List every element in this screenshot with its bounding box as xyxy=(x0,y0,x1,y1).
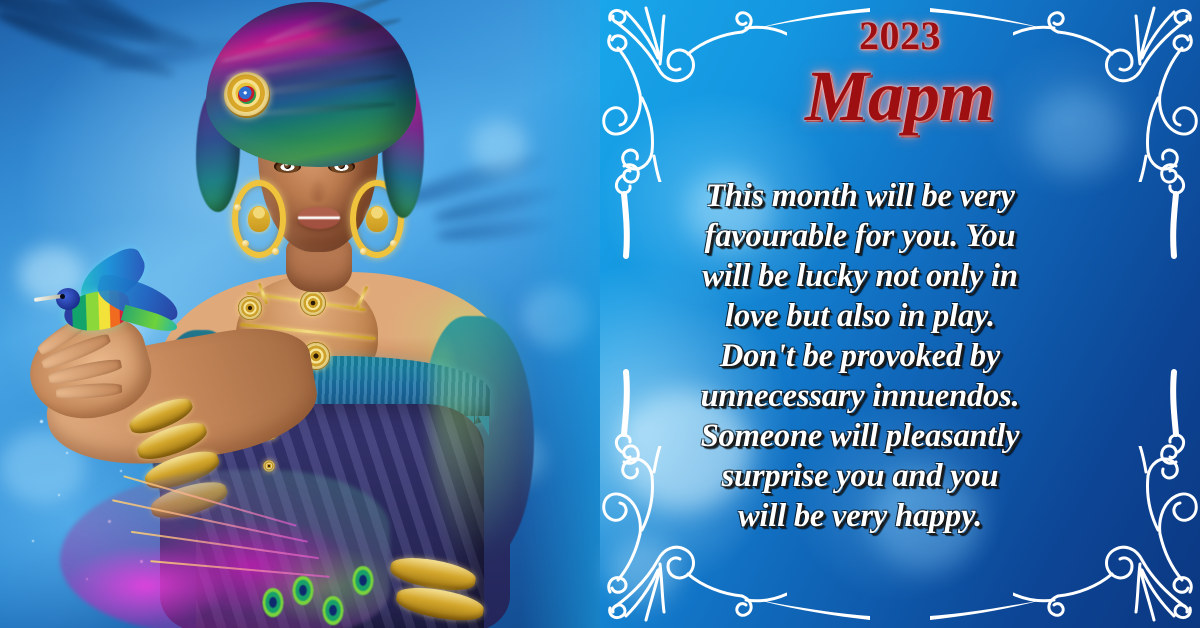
chin-shadow xyxy=(282,234,354,252)
illustration-panel xyxy=(0,0,600,628)
fortune-teller-figure xyxy=(0,0,600,628)
earring-bead xyxy=(234,204,241,211)
prediction-line: unnecessary innuendos. xyxy=(645,376,1075,416)
month-label: Март xyxy=(600,58,1200,136)
edge-ornament-right-upper xyxy=(1158,160,1198,260)
prediction-text: This month will be very favourable for y… xyxy=(645,176,1075,536)
hummingbird-eye xyxy=(60,294,65,299)
turban-brooch xyxy=(224,72,270,118)
prediction-line: will be very happy. xyxy=(645,496,1075,536)
hoop-earring xyxy=(232,180,286,258)
prediction-line: This month will be very xyxy=(645,176,1075,216)
earring-bead xyxy=(390,240,397,247)
peacock-eye-feather xyxy=(322,596,344,626)
bokeh-light xyxy=(608,540,678,604)
prediction-line: will be lucky not only in xyxy=(645,256,1075,296)
earring-bead xyxy=(360,248,367,255)
prediction-line: Someone will pleasantly xyxy=(645,416,1075,456)
year-label: 2023 xyxy=(600,16,1200,56)
peacock-eye-feather xyxy=(292,576,314,606)
edge-ornament-bottom-right-dart xyxy=(928,596,1048,622)
title-block: 2023 Март xyxy=(600,16,1200,136)
peacock-eye-feather xyxy=(352,566,374,596)
edge-ornament-left-lower xyxy=(602,368,642,468)
prediction-line: love but also in play. xyxy=(645,296,1075,336)
peacock-eye-feather xyxy=(262,588,284,618)
horoscope-card: 2023 Март This month will be very favour… xyxy=(0,0,1200,628)
edge-ornament-left-upper xyxy=(602,160,642,260)
earring-bead xyxy=(242,240,249,247)
prediction-line: surprise you and you xyxy=(645,456,1075,496)
edge-ornament-bottom-left-dart xyxy=(752,596,872,622)
edge-ornament-right-lower xyxy=(1158,368,1198,468)
necklace-disc xyxy=(238,296,262,320)
prediction-line: Don't be provoked by xyxy=(645,336,1075,376)
prediction-line: favourable for you. You xyxy=(645,216,1075,256)
lips xyxy=(298,207,340,229)
earring-bead xyxy=(272,248,279,255)
necklace-disc xyxy=(300,290,326,316)
hummingbird-head xyxy=(56,288,80,310)
nose xyxy=(308,178,328,202)
